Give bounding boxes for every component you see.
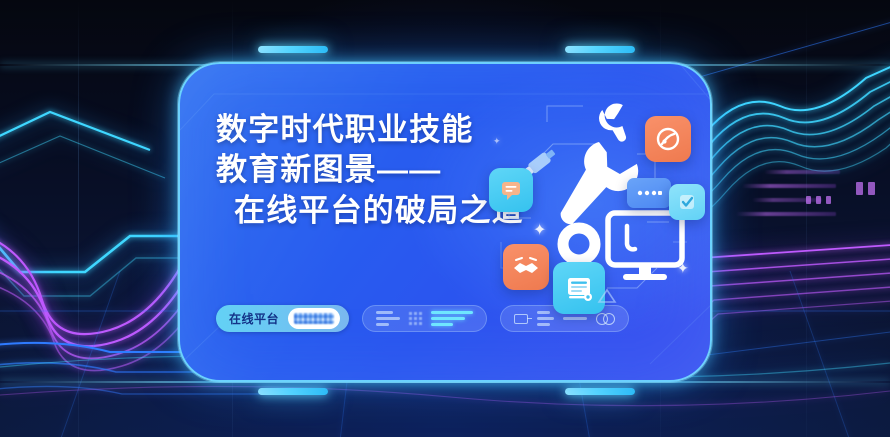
title-line-2: 教育新图景—— bbox=[216, 150, 516, 190]
triangle-glyph-icon bbox=[597, 288, 617, 309]
keyboard-icon bbox=[627, 178, 671, 208]
handshake-icon bbox=[503, 244, 549, 290]
redacted-grid-icon bbox=[409, 312, 422, 325]
tag-pill-secondary[interactable] bbox=[362, 305, 487, 332]
title-line-3: 在线平台的破局之道 bbox=[216, 191, 516, 231]
scene-stage: 数字时代职业技能 教育新图景—— 在线平台的破局之道 在线平台 bbox=[0, 0, 890, 437]
no-entry-icon bbox=[645, 116, 691, 162]
title-line-1: 数字时代职业技能 bbox=[216, 110, 516, 150]
divider-bar-icon bbox=[563, 317, 587, 320]
checkmark-tile-icon bbox=[669, 184, 705, 220]
tools-illustration: ✦ ✦ ✦ bbox=[487, 92, 702, 317]
monitor-icon bbox=[605, 210, 685, 289]
sparkle-icon: ✦ bbox=[533, 220, 546, 240]
sparkle-icon: ✦ bbox=[493, 136, 501, 147]
tag-pill-label: 在线平台 bbox=[216, 310, 288, 327]
sparkle-icon: ✦ bbox=[677, 260, 689, 277]
light-bar-bottom-left bbox=[258, 388, 328, 395]
light-bar-bottom-right bbox=[565, 388, 635, 395]
page-title: 数字时代职业技能 教育新图景—— 在线平台的破局之道 bbox=[216, 110, 516, 231]
hero-card: 数字时代职业技能 教育新图景—— 在线平台的破局之道 在线平台 bbox=[178, 62, 712, 382]
chat-bubble-icon bbox=[489, 168, 533, 212]
bar-list-icon bbox=[376, 311, 400, 326]
cyan-bar-list-icon bbox=[431, 311, 473, 326]
tag-pill-online-platform[interactable]: 在线平台 bbox=[216, 305, 349, 332]
tag-pill-chip bbox=[288, 308, 340, 329]
light-bar-top-right bbox=[565, 46, 635, 53]
light-bar-top-left bbox=[258, 46, 328, 53]
redacted-text-icon bbox=[294, 313, 334, 324]
